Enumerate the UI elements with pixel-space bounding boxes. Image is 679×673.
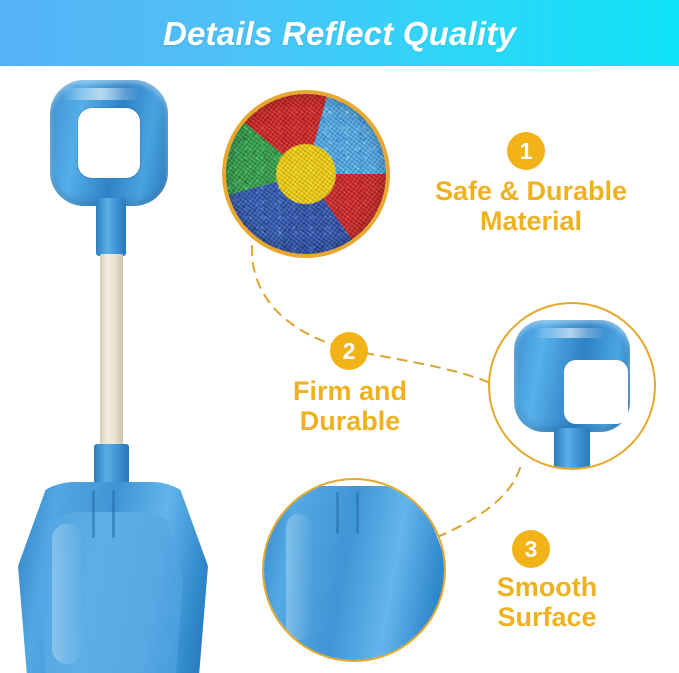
plastic-pellet-material-photo [222, 90, 390, 258]
page-title: Details Reflect Quality [163, 17, 516, 50]
inset-handle-grip-hole [564, 360, 628, 424]
shovel-blade-rib-right [112, 490, 115, 538]
feature-badge-2: 2 [330, 332, 368, 370]
header-banner: Details Reflect Quality [0, 0, 679, 66]
shovel-grip-highlight [62, 88, 140, 100]
shovel-wooden-shaft [100, 254, 123, 452]
inset-blade-highlight [286, 514, 312, 640]
shovel-ferrule [94, 444, 129, 488]
inset-handle-neck [554, 428, 590, 470]
shovel-blade-rib-left [92, 490, 95, 538]
infographic-page: Details Reflect Quality [0, 0, 679, 673]
shovel-grip-hole [78, 108, 140, 178]
shovel-grip-neck [96, 198, 126, 256]
handle-closeup-inset [488, 302, 656, 470]
feature-badge-3: 3 [512, 530, 550, 568]
inset-handle-highlight [534, 328, 606, 338]
blade-surface-closeup-inset [262, 478, 446, 662]
feature-label-2: Firm and Durable [262, 376, 438, 436]
feature-label-3: Smooth Surface [448, 572, 646, 632]
product-image-shovel [8, 72, 228, 670]
connector-pellets-to-handle-path [252, 246, 488, 382]
inset-blade-rib-left [336, 492, 339, 534]
inset-blade-rib-right [356, 492, 359, 534]
feature-badge-1: 1 [507, 132, 545, 170]
pellet-vignette [226, 94, 386, 254]
shovel-blade-highlight [52, 524, 82, 664]
feature-label-1: Safe & Durable Material [396, 176, 666, 236]
